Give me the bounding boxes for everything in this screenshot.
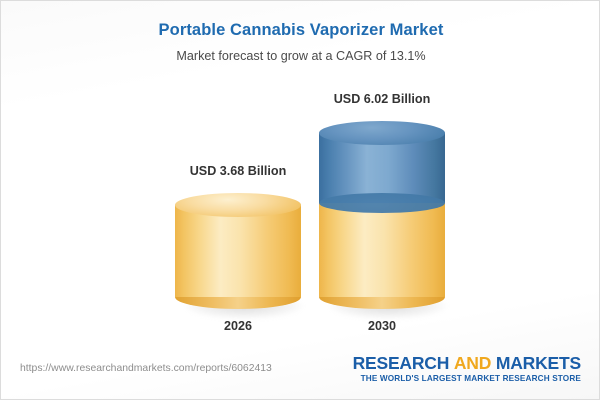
chart-plot-area: USD 3.68 Billion 2026 USD 6.02 Billion xyxy=(1,1,600,400)
logo-word-markets: MARKETS xyxy=(496,353,581,373)
brand-logo[interactable]: RESEARCH AND MARKETS THE WORLD'S LARGEST… xyxy=(353,353,581,384)
cylinder-segment-seam xyxy=(319,193,445,213)
footer: https://www.researchandmarkets.com/repor… xyxy=(1,345,599,399)
category-label-2030: 2030 xyxy=(319,319,445,333)
market-infographic: Portable Cannabis Vaporizer Market Marke… xyxy=(0,0,600,400)
value-label-2026: USD 3.68 Billion xyxy=(145,164,331,178)
cylinder-body-yellow-base xyxy=(319,201,445,297)
report-url[interactable]: https://www.researchandmarkets.com/repor… xyxy=(20,363,272,374)
logo-word-research: RESEARCH xyxy=(353,353,450,373)
logo-word-and: AND xyxy=(449,353,496,373)
value-label-2030: USD 6.02 Billion xyxy=(289,92,475,106)
logo-wordmark: RESEARCH AND MARKETS xyxy=(353,353,581,373)
category-label-2026: 2026 xyxy=(175,319,301,333)
cylinder-top-cap-blue xyxy=(319,121,445,145)
logo-tagline: THE WORLD'S LARGEST MARKET RESEARCH STOR… xyxy=(353,374,581,384)
cylinder-body-yellow xyxy=(175,205,301,297)
cylinder-top-cap-yellow xyxy=(175,193,301,217)
